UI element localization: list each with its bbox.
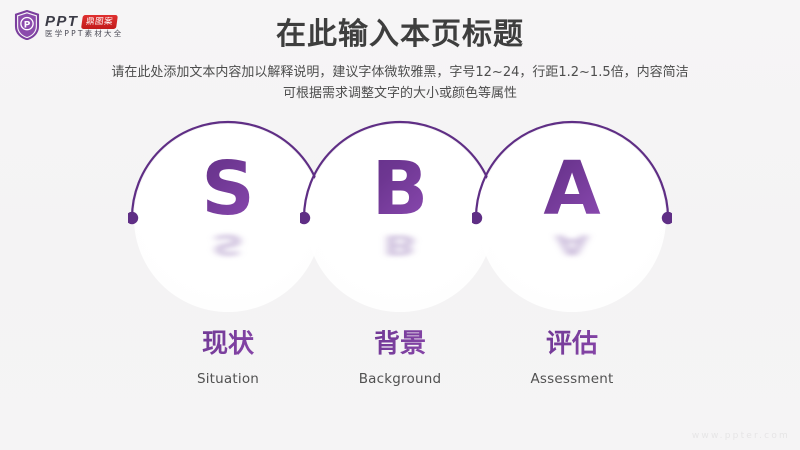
footer-watermark: www.ppter.com (692, 431, 790, 441)
label-group-assessment[interactable]: 评估 Assessment (472, 330, 672, 387)
slide-canvas: P PPT 鼎图案 医学PPT素材大全 在此输入本页标题 请在此处添加文本内容加… (0, 0, 800, 450)
subtitle-line-2: 可根据需求调整文字的大小或颜色等属性 (0, 83, 800, 104)
diagram-node-background[interactable]: B B (300, 118, 500, 318)
label-group-situation[interactable]: 现状 Situation (128, 330, 328, 387)
label-en: Situation (128, 371, 328, 387)
label-group-background[interactable]: 背景 Background (300, 330, 500, 387)
node-letter: A (472, 152, 672, 226)
label-en: Assessment (472, 371, 672, 387)
diagram-node-assessment[interactable]: A A (472, 118, 672, 318)
page-title: 在此输入本页标题 (0, 17, 800, 53)
subtitle-line-1: 请在此处添加文本内容加以解释说明，建议字体微软雅黑，字号12~24，行距1.2~… (0, 62, 800, 83)
diagram-node-situation[interactable]: S S (128, 118, 328, 318)
label-cn: 背景 (300, 330, 500, 360)
label-cn: 现状 (128, 330, 328, 360)
node-letter: B (300, 152, 500, 226)
label-cn: 评估 (472, 330, 672, 360)
sba-diagram: S S B B A A (0, 118, 800, 318)
diagram-labels: 现状 Situation 背景 Background 评估 Assessment (0, 330, 800, 420)
page-subtitle: 请在此处添加文本内容加以解释说明，建议字体微软雅黑，字号12~24，行距1.2~… (0, 62, 800, 104)
node-letter: S (128, 152, 328, 226)
label-en: Background (300, 371, 500, 387)
